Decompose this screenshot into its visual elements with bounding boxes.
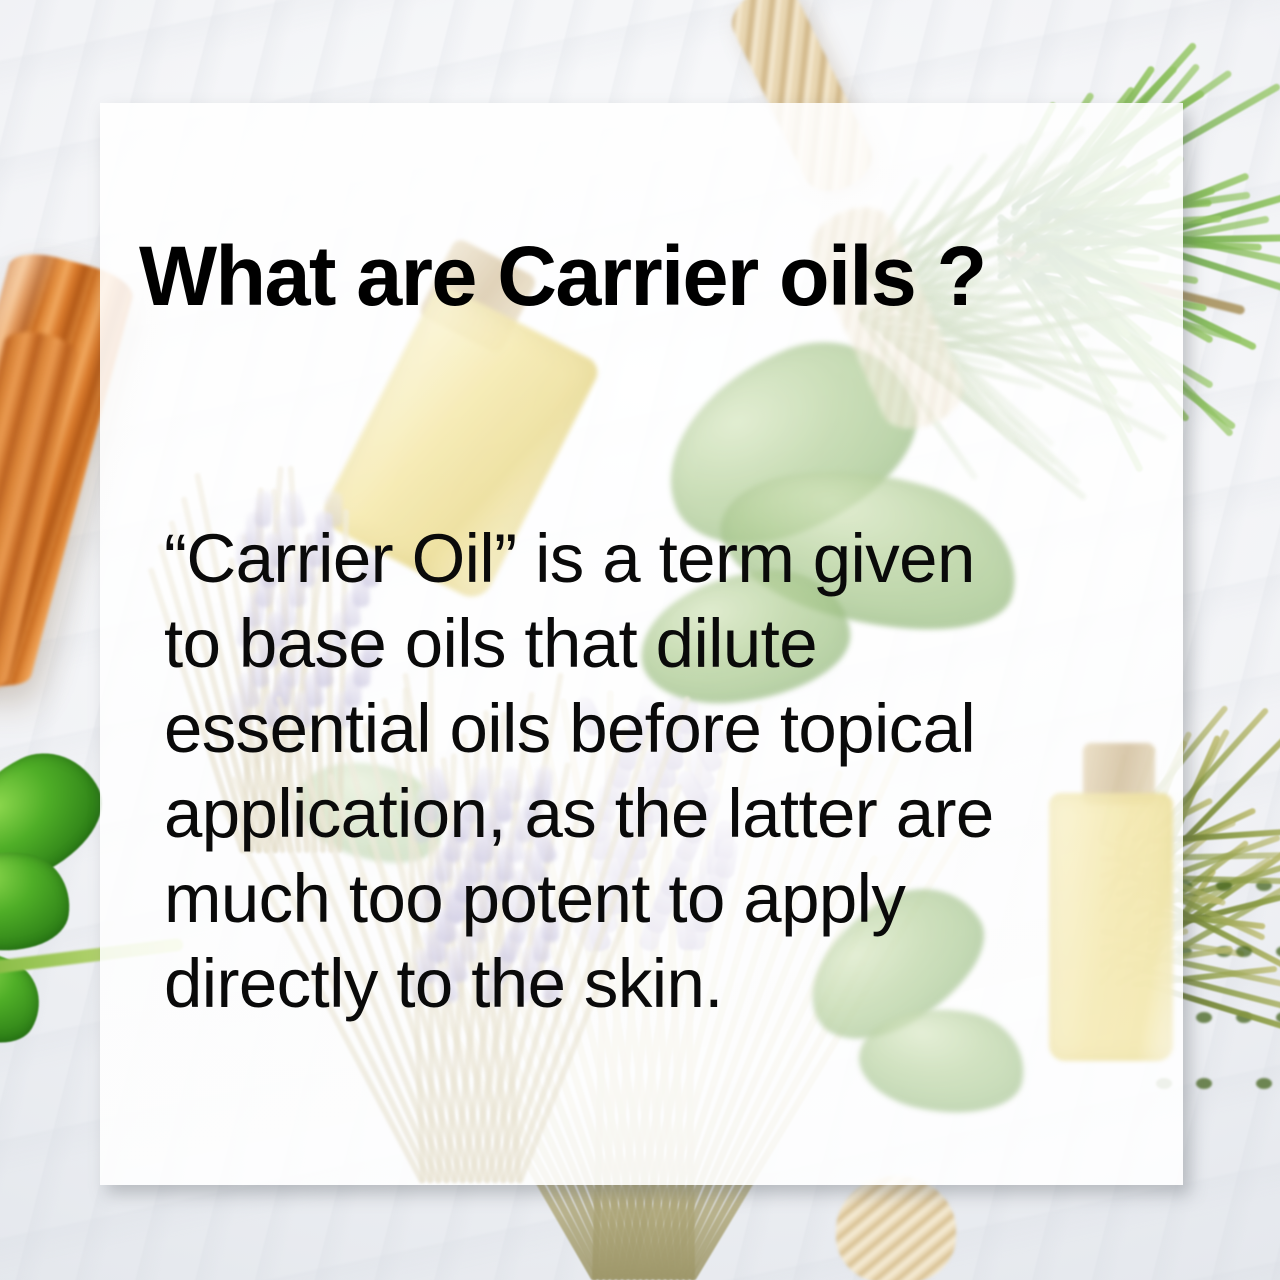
body-paragraph: “Carrier Oil” is a term given to base oi… (164, 516, 1164, 1026)
body-line: application, as the latter are (164, 771, 1164, 856)
body-line: essential oils before topical (164, 686, 1164, 771)
page-title: What are Carrier oils ? (139, 234, 1144, 318)
body-line: to base oils that dilute (164, 601, 1164, 686)
body-line: much too potent to apply (164, 856, 1164, 941)
text-layer: What are Carrier oils ? “Carrier Oil” is… (0, 0, 1280, 1280)
graphic-canvas: What are Carrier oils ? “Carrier Oil” is… (0, 0, 1280, 1280)
body-line: “Carrier Oil” is a term given (164, 516, 1164, 601)
body-line: directly to the skin. (164, 941, 1164, 1026)
